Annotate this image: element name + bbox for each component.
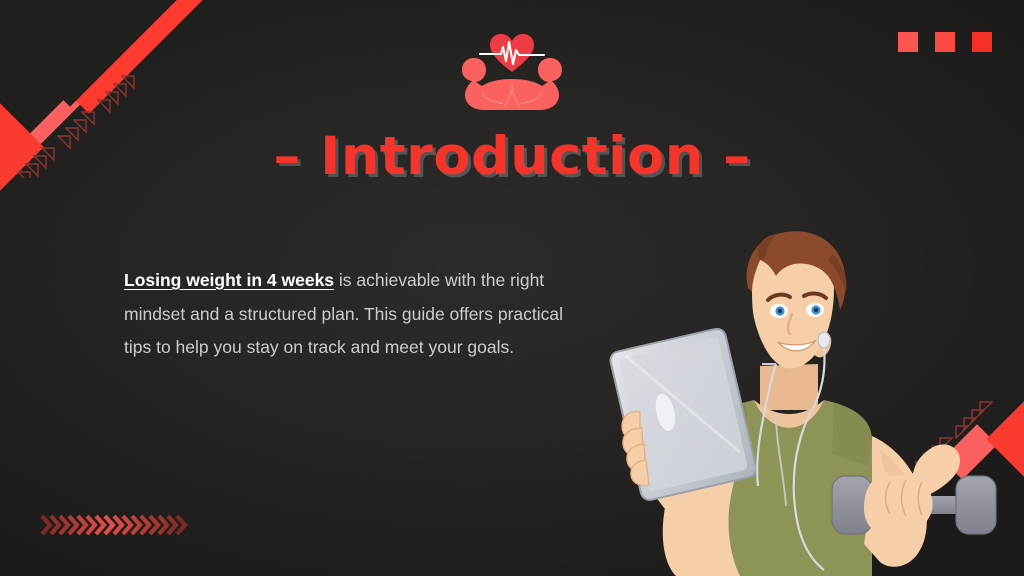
earbud-right [818, 332, 830, 348]
body-paragraph: Losing weight in 4 weeks is achievable w… [124, 264, 574, 365]
man-with-tablet-and-dumbbell [580, 214, 1010, 576]
slide-canvas: – Introduction – Losing weight in 4 week… [0, 0, 1024, 576]
eye-left [770, 304, 788, 318]
square-dot-1 [898, 32, 918, 52]
body-lead-phrase: Losing weight in 4 weeks [124, 270, 334, 290]
top-right-square-dots [898, 32, 992, 52]
eye-right [806, 303, 824, 317]
page-title: – Introduction – [0, 130, 1024, 183]
dumbbell-weight-right [956, 476, 996, 534]
square-dot-2 [935, 32, 955, 52]
decor-shape-dark-mask [0, 0, 189, 107]
fitness-heart-muscle-logo [456, 24, 568, 112]
square-dot-3 [972, 32, 992, 52]
decor-shape-salmon-block [0, 0, 210, 152]
decor-shape-red-stripe [0, 0, 266, 114]
chevron-arrow-strip [40, 512, 190, 538]
